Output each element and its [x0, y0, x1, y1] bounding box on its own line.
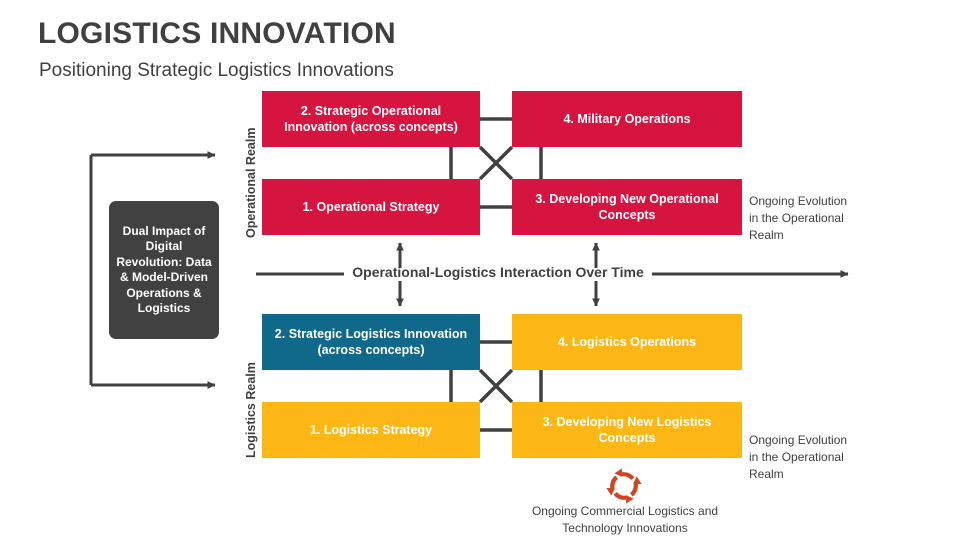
axis-label-operational-realm: Operational Realm: [244, 128, 258, 238]
axis-label-logistics-realm: Logistics Realm: [244, 362, 258, 458]
box-operational-strategy[interactable]: 1. Operational Strategy: [262, 179, 480, 235]
refresh-cycle-icon: [606, 468, 641, 503]
box-logistics-operations[interactable]: 4. Logistics Operations: [512, 314, 742, 370]
source-impact-box[interactable]: Dual Impact of Digital Revolution: Data …: [109, 201, 219, 339]
box-developing-new-operational-concepts[interactable]: 3. Developing New Operational Concepts: [512, 179, 742, 235]
note-operational-evolution-bottom: Ongoing Evolution in the Operational Rea…: [749, 432, 853, 483]
page-subtitle: Positioning Strategic Logistics Innovati…: [39, 60, 394, 82]
box-logistics-strategy[interactable]: 1. Logistics Strategy: [262, 402, 480, 458]
caption-commercial-logistics-innovations: Ongoing Commercial Logistics and Technol…: [515, 503, 735, 537]
box-developing-new-logistics-concepts[interactable]: 3. Developing New Logistics Concepts: [512, 402, 742, 458]
box-military-operations[interactable]: 4. Military Operations: [512, 91, 742, 147]
box-strategic-operational-innovation[interactable]: 2. Strategic Operational Innovation (acr…: [262, 91, 480, 147]
axis-label-interaction-over-time: Operational-Logistics Interaction Over T…: [348, 264, 648, 280]
note-operational-evolution-top: Ongoing Evolution in the Operational Rea…: [749, 193, 853, 244]
slide-canvas: LOGISTICS INNOVATION Positioning Strateg…: [0, 0, 960, 540]
page-title: LOGISTICS INNOVATION: [38, 17, 396, 51]
box-strategic-logistics-innovation[interactable]: 2. Strategic Logistics Innovation (acros…: [262, 314, 480, 370]
